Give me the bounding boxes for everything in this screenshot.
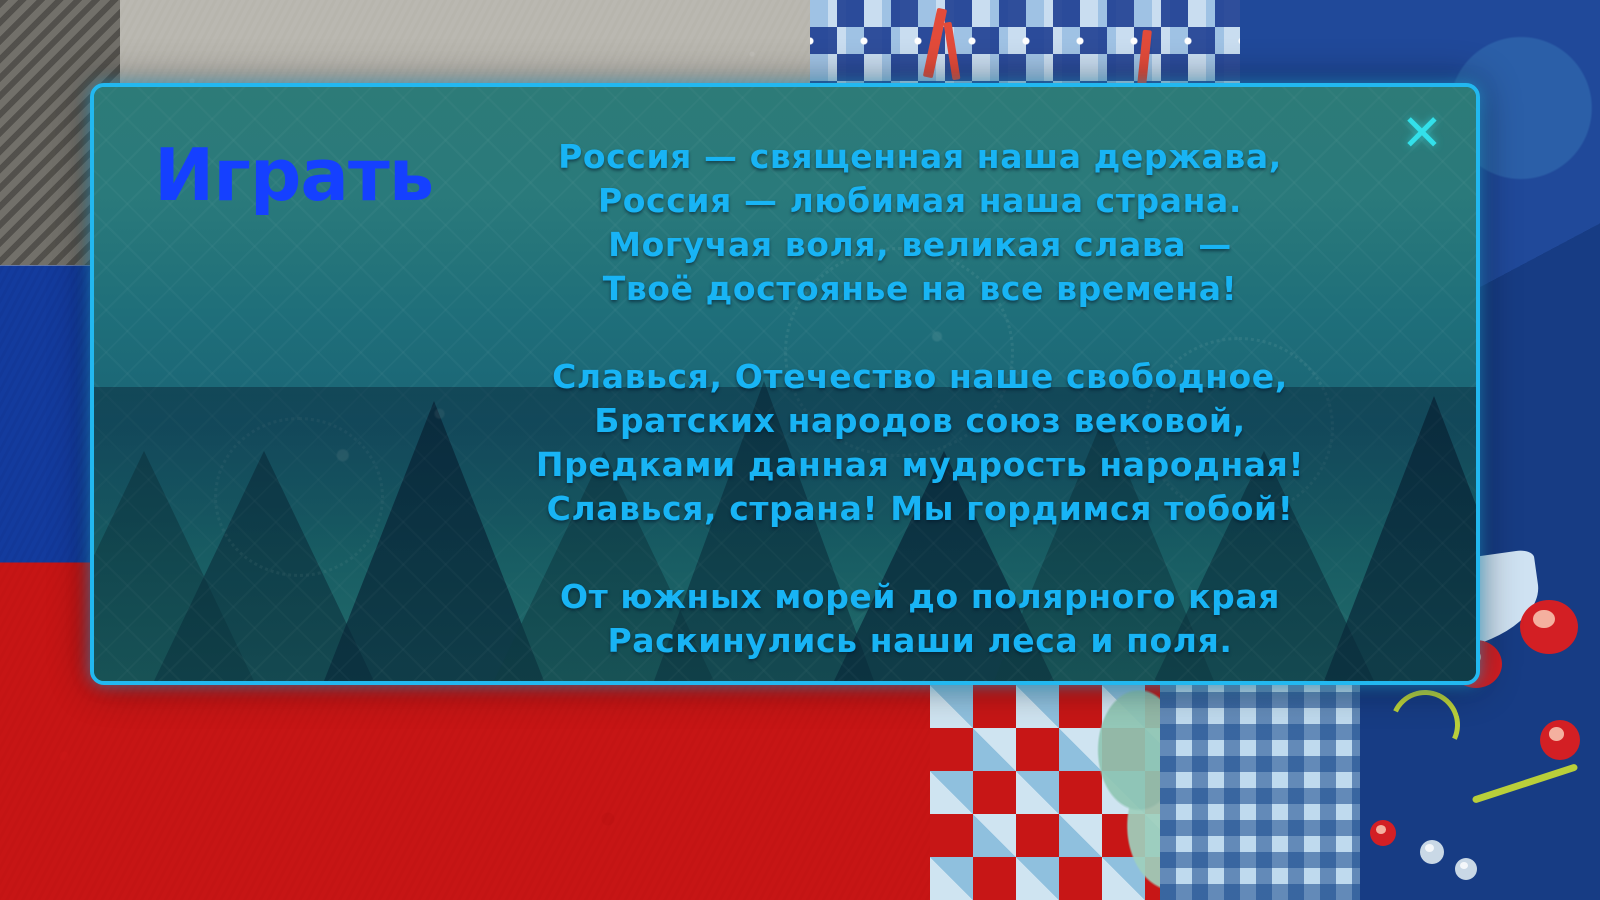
lyric-spacer <box>424 311 1416 355</box>
lyric-line: Славься, Отечество наше свободное, <box>424 355 1416 399</box>
berry-ornament <box>1370 820 1396 846</box>
lyric-line: Россия — любимая наша страна. <box>424 179 1416 223</box>
lyric-line: Предками данная мудрость народная! <box>424 443 1416 487</box>
lyric-line: Россия — священная наша держава, <box>424 135 1416 179</box>
berry-ornament <box>1520 600 1578 654</box>
anthem-lyrics: Россия — священная наша держава, Россия … <box>424 135 1416 663</box>
lyric-line: Братских народов союз вековой, <box>424 399 1416 443</box>
panel-content: Играть ✕ Россия — священная наша держава… <box>94 87 1476 681</box>
lyric-line: Раскинулись наши леса и поля. <box>424 619 1416 663</box>
lyric-spacer <box>424 531 1416 575</box>
play-title: Играть <box>154 139 433 211</box>
berry-ornament <box>1455 858 1477 880</box>
swirl-ornament <box>1380 680 1470 770</box>
screen: Играть ✕ Россия — священная наша держава… <box>0 0 1600 900</box>
lyric-line: Славься, страна! Мы гордимся тобой! <box>424 487 1416 531</box>
stem-ornament <box>1472 763 1579 804</box>
lyric-line: Твоё достоянье на все времена! <box>424 267 1416 311</box>
lyric-line: Могучая воля, великая слава — <box>424 223 1416 267</box>
berry-ornament <box>1420 840 1444 864</box>
berry-ornament <box>1540 720 1580 760</box>
anthem-modal: Играть ✕ Россия — священная наша держава… <box>90 83 1480 685</box>
check-pattern <box>1160 685 1360 900</box>
lyric-line: От южных морей до полярного края <box>424 575 1416 619</box>
